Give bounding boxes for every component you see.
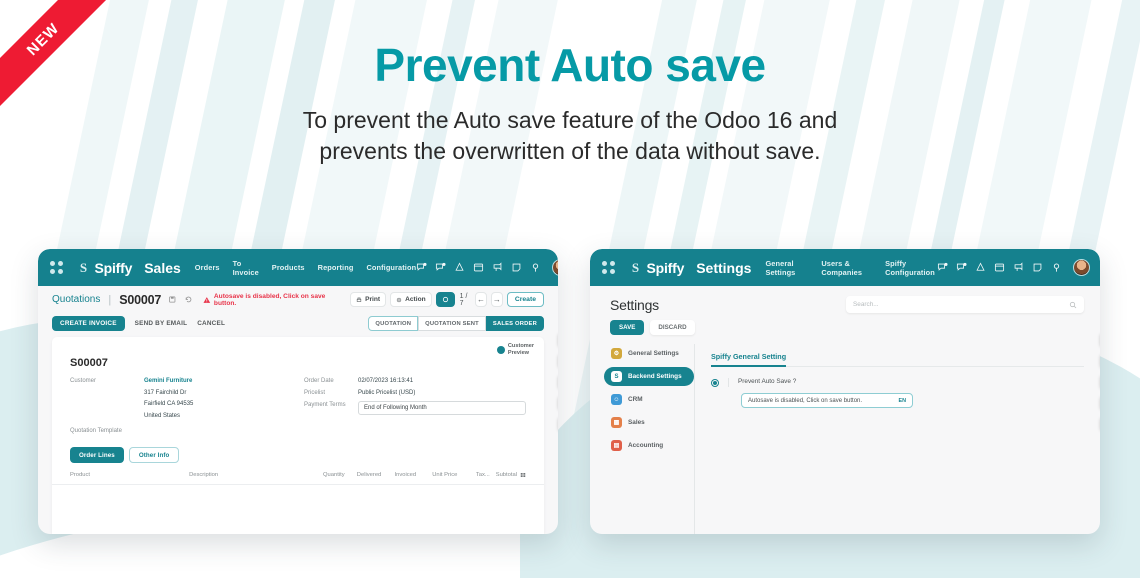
form-column-left: Customer Gemini Furniture 317 Fairchild … xyxy=(70,377,288,437)
settings-main-panel: Spiffy General Setting Prevent Auto Save… xyxy=(695,344,1100,534)
sidebar-item-accounting-label: Accounting xyxy=(628,442,663,449)
field-order-date-value[interactable]: 02/07/2023 16:13:41 xyxy=(358,377,413,386)
save-cloud-icon[interactable] xyxy=(168,295,177,304)
discard-button[interactable]: DISCARD xyxy=(650,320,694,335)
page-title: Prevent Auto save xyxy=(0,40,1140,91)
settings-header: Settings Search... xyxy=(590,286,1100,313)
field-address-country: United States xyxy=(70,412,288,421)
save-button[interactable]: SAVE xyxy=(610,320,644,335)
control-row-right: Print Action 1 / 7 ← → Create xyxy=(350,292,544,307)
menu-item-users-companies[interactable]: Users & Companies xyxy=(821,259,872,277)
sidebar-item-sales-label: Sales xyxy=(628,419,645,426)
breadcrumb[interactable]: Quotations xyxy=(52,294,100,305)
menu-item-to-invoice[interactable]: To Invoice xyxy=(233,259,259,277)
field-order-date-label: Order Date xyxy=(304,377,358,384)
form-column-right: Order Date 02/07/2023 16:13:41 Pricelist… xyxy=(288,377,526,437)
th-invoiced: Invoiced xyxy=(394,472,432,478)
user-avatar[interactable] xyxy=(1073,259,1090,276)
menu-item-products[interactable]: Products xyxy=(272,263,305,272)
record-name: S00007 xyxy=(119,293,161,307)
field-customer: Customer Gemini Furniture xyxy=(70,377,288,386)
order-lines-table-header: Product Description Quantity Delivered I… xyxy=(52,463,544,485)
field-payment-terms: Payment Terms End of Following Month xyxy=(304,401,526,415)
note-icon[interactable] xyxy=(1032,262,1043,273)
calendar-icon[interactable] xyxy=(994,262,1005,273)
grid-apps-icon[interactable] xyxy=(602,261,615,274)
calendar-icon[interactable] xyxy=(473,262,484,273)
crm-icon: ☺ xyxy=(611,394,622,405)
status-sales-order[interactable]: SALES ORDER xyxy=(486,316,544,331)
sales-control-row: Quotations | S00007 Autosave is disabled… xyxy=(38,286,558,313)
pager-next-button[interactable]: → xyxy=(491,292,503,307)
sales-systray xyxy=(416,259,558,276)
messages-icon[interactable] xyxy=(937,262,948,273)
settings-app-window: S Spiffy Settings General Settings Users… xyxy=(590,249,1100,534)
customer-preview-icon xyxy=(497,346,505,354)
bug-icon[interactable] xyxy=(454,262,465,273)
th-unit-price: Unit Price xyxy=(432,472,476,478)
subtitle-line-1: To prevent the Auto save feature of the … xyxy=(303,107,838,133)
customer-preview-line2: Preview xyxy=(508,350,534,357)
address-city: Fairfield CA 94535 xyxy=(144,400,193,409)
menu-item-general-settings[interactable]: General Settings xyxy=(765,259,808,277)
sales-icon: ▩ xyxy=(611,417,622,428)
field-order-date: Order Date 02/07/2023 16:13:41 xyxy=(304,377,526,386)
th-delivered: Delivered xyxy=(357,472,395,478)
status-quotation[interactable]: QUOTATION xyxy=(368,316,418,331)
cancel-button[interactable]: CANCEL xyxy=(197,320,225,327)
send-by-email-button[interactable]: SEND BY EMAIL xyxy=(135,320,188,327)
printer-icon xyxy=(356,297,362,303)
grid-apps-icon[interactable] xyxy=(50,261,63,274)
menu-item-orders[interactable]: Orders xyxy=(195,263,220,272)
headline-block: Prevent Auto save To prevent the Auto sa… xyxy=(0,40,1140,168)
tab-other-info[interactable]: Other Info xyxy=(129,447,180,463)
field-address-street: 317 Fairchild Dr xyxy=(70,389,288,398)
field-quotation-template-label: Quotation Template xyxy=(70,427,122,434)
sales-menu: Orders To Invoice Products Reporting Con… xyxy=(195,259,416,277)
th-tax: Tax... xyxy=(476,472,496,478)
sales-topbar: S Spiffy Sales Orders To Invoice Product… xyxy=(38,249,558,286)
sales-action-row: CREATE INVOICE SEND BY EMAIL CANCEL QUOT… xyxy=(38,313,558,331)
megaphone-icon[interactable] xyxy=(492,262,503,273)
field-pricelist: Pricelist Public Pricelist (USD) xyxy=(304,389,526,398)
sheet-tabs: Order Lines Other Info xyxy=(52,437,544,463)
megaphone-icon[interactable] xyxy=(1013,262,1024,273)
autosave-message-input[interactable]: Autosave is disabled, Click on save butt… xyxy=(741,393,913,408)
spiffy-swirl-icon: S xyxy=(77,261,91,275)
pager: 1 / 7 xyxy=(459,293,471,307)
action-label: Action xyxy=(405,296,426,303)
sidebar-item-sales[interactable]: ▩ Sales xyxy=(604,413,694,432)
settings-topbar: S Spiffy Settings General Settings Users… xyxy=(590,249,1100,286)
field-customer-label: Customer xyxy=(70,377,144,384)
address-street: 317 Fairchild Dr xyxy=(144,389,186,398)
sidebar-item-general-settings[interactable]: ⚙ General Settings xyxy=(604,344,694,363)
customer-preview-line1: Customer xyxy=(508,343,534,350)
activities-icon[interactable] xyxy=(435,262,446,273)
autosave-warning: Autosave is disabled, Click on save butt… xyxy=(203,293,343,307)
tab-order-lines[interactable]: Order Lines xyxy=(70,447,124,463)
field-quotation-template: Quotation Template xyxy=(70,427,288,434)
settings-sidebar: ⚙ General Settings S Backend Settings ☺ … xyxy=(590,344,695,534)
brand-logo[interactable]: S Spiffy xyxy=(77,260,133,276)
create-button[interactable]: Create xyxy=(507,292,544,307)
column-options-icon[interactable] xyxy=(520,472,526,478)
sidebar-item-backend-settings[interactable]: S Backend Settings xyxy=(604,367,694,386)
field-customer-value[interactable]: Gemini Furniture xyxy=(144,377,192,386)
promo-banner: NEW Prevent Auto save To prevent the Aut… xyxy=(0,0,1140,578)
gear-icon xyxy=(396,297,402,303)
settings-menu: General Settings Users & Companies Spiff… xyxy=(765,259,937,277)
sidebar-item-accounting[interactable]: ▤ Accounting xyxy=(604,436,694,455)
menu-item-configuration[interactable]: Configuration xyxy=(366,263,416,272)
sheet-record-title: S00007 xyxy=(52,337,544,369)
bug-icon[interactable] xyxy=(975,262,986,273)
app-name: Settings xyxy=(696,260,751,276)
breadcrumb-separator: | xyxy=(108,294,111,306)
pager-prev-button[interactable]: ← xyxy=(475,292,487,307)
brand-name: Spiffy xyxy=(95,260,133,276)
search-placeholder: Search... xyxy=(853,301,879,308)
field-pricelist-label: Pricelist xyxy=(304,389,358,396)
brand-logo[interactable]: S Spiffy xyxy=(629,260,685,276)
section-tab-spiffy-general-setting[interactable]: Spiffy General Setting xyxy=(711,352,786,367)
th-product: Product xyxy=(70,472,189,478)
backend-settings-icon: S xyxy=(611,371,622,382)
sales-app-window: S Spiffy Sales Orders To Invoice Product… xyxy=(38,249,558,534)
app-name: Sales xyxy=(144,260,181,276)
autosave-warning-text: Autosave is disabled, Click on save butt… xyxy=(214,293,343,307)
search-icon[interactable] xyxy=(1069,301,1077,309)
menu-item-reporting[interactable]: Reporting xyxy=(318,263,354,272)
settings-page-title: Settings xyxy=(610,297,659,313)
brand-name: Spiffy xyxy=(647,260,685,276)
settings-search-box[interactable]: Search... xyxy=(846,296,1084,313)
language-badge[interactable]: EN xyxy=(899,398,907,404)
settings-body: ⚙ General Settings S Backend Settings ☺ … xyxy=(590,344,1100,534)
form-grid: Customer Gemini Furniture 317 Fairchild … xyxy=(52,369,544,437)
general-settings-icon: ⚙ xyxy=(611,348,622,359)
circle-view-icon[interactable] xyxy=(436,292,455,307)
prevent-auto-save-label: Prevent Auto Save ? xyxy=(738,378,796,385)
option-divider xyxy=(728,378,729,387)
sidebar-item-backend-settings-label: Backend Settings xyxy=(628,373,682,380)
messages-icon[interactable] xyxy=(416,262,427,273)
field-pricelist-value[interactable]: Public Pricelist (USD) xyxy=(358,389,415,398)
field-payment-terms-label: Payment Terms xyxy=(304,401,358,408)
activities-icon[interactable] xyxy=(956,262,967,273)
th-description: Description xyxy=(189,472,323,478)
field-address-city: Fairfield CA 94535 xyxy=(70,400,288,409)
status-quotation-sent[interactable]: QUOTATION SENT xyxy=(418,316,486,331)
th-quantity: Quantity xyxy=(323,472,357,478)
user-avatar[interactable] xyxy=(552,259,558,276)
record-sheet: Customer Preview S00007 Customer Gemini … xyxy=(52,337,544,534)
menu-item-spiffy-configuration[interactable]: Spiffy Configuration xyxy=(885,259,937,277)
pin-icon[interactable] xyxy=(1051,262,1062,273)
checkbox-checked-icon[interactable] xyxy=(711,379,719,387)
discard-undo-icon[interactable] xyxy=(184,295,193,304)
create-invoice-button[interactable]: CREATE INVOICE xyxy=(52,316,125,331)
action-button[interactable]: Action xyxy=(390,292,432,307)
settings-action-row: SAVE DISCARD xyxy=(590,313,1100,335)
warning-triangle-icon xyxy=(203,296,211,304)
accounting-icon: ▤ xyxy=(611,440,622,451)
sidebar-item-crm-label: CRM xyxy=(628,396,643,403)
status-bar: QUOTATION QUOTATION SENT SALES ORDER xyxy=(368,316,544,331)
customer-preview-button[interactable]: Customer Preview xyxy=(497,343,534,357)
sidebar-item-crm[interactable]: ☺ CRM xyxy=(604,390,694,409)
print-button[interactable]: Print xyxy=(350,292,386,307)
subtitle-line-2: prevents the overwritten of the data wit… xyxy=(319,138,820,164)
note-icon[interactable] xyxy=(511,262,522,273)
spiffy-swirl-icon: S xyxy=(629,261,643,275)
sidebar-item-general-settings-label: General Settings xyxy=(628,350,679,357)
address-country: United States xyxy=(144,412,180,421)
payment-terms-input[interactable]: End of Following Month xyxy=(358,401,526,415)
pin-icon[interactable] xyxy=(530,262,541,273)
print-label: Print xyxy=(365,296,380,303)
settings-systray xyxy=(937,259,1090,276)
th-subtotal: Subtotal xyxy=(496,472,517,478)
prevent-auto-save-option: Prevent Auto Save ? xyxy=(711,378,1084,387)
autosave-message-value: Autosave is disabled, Click on save butt… xyxy=(748,398,862,404)
